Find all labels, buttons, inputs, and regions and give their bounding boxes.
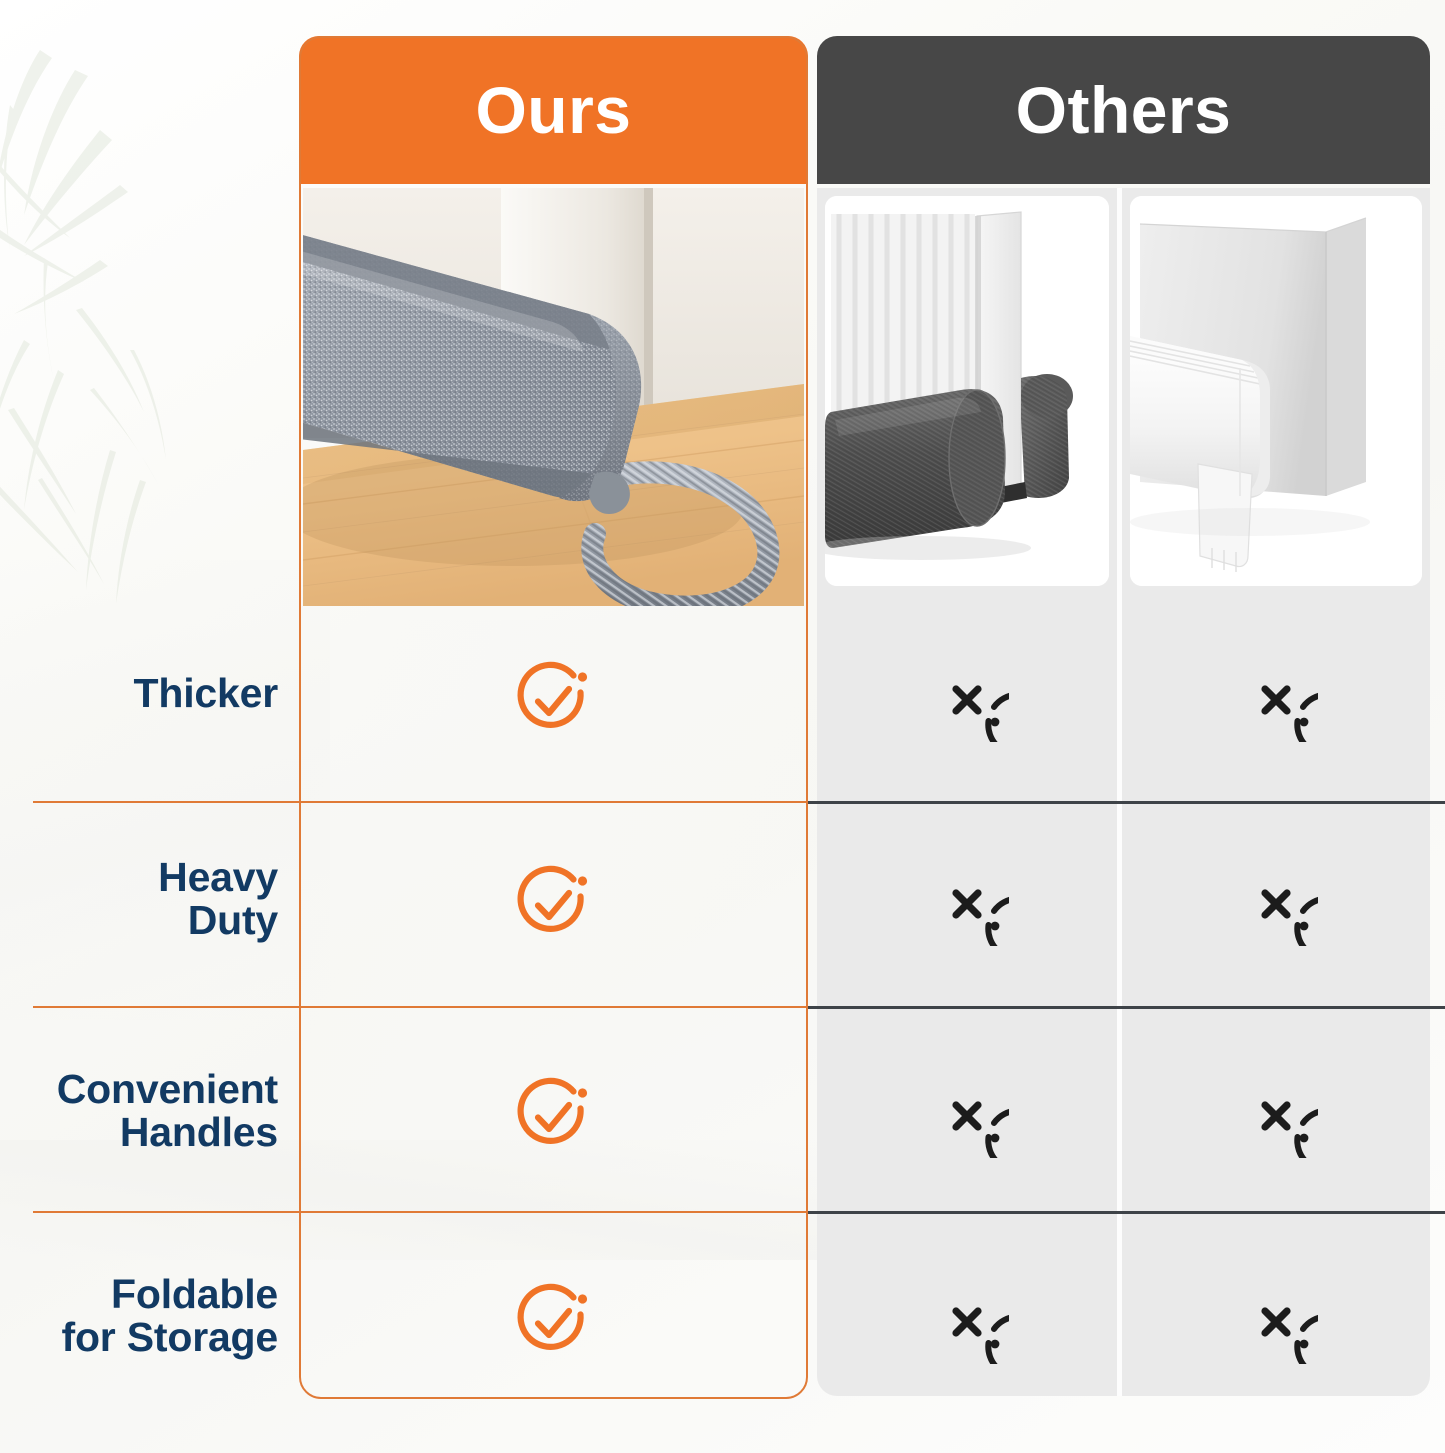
feature-label-line: for Storage [0, 1316, 278, 1359]
feature-label-line: Handles [0, 1111, 278, 1154]
ours-check-convenient-handles [511, 1074, 595, 1158]
others-cross-heavy-duty-1 [925, 862, 1009, 946]
row-divider-right [808, 1211, 1445, 1214]
row-divider-left [33, 1211, 808, 1213]
others-cross-thicker-2 [1234, 658, 1318, 742]
others-cross-foldable-for-storage-2 [1234, 1280, 1318, 1364]
row-divider-right [808, 1006, 1445, 1009]
ours-check-foldable-for-storage [511, 1280, 595, 1364]
others-cross-convenient-handles-2 [1234, 1074, 1318, 1158]
others-title: Others [1016, 77, 1232, 143]
feature-label-thicker: Thicker [0, 672, 278, 715]
feature-label-convenient-handles: Convenient Handles [0, 1068, 278, 1155]
comparison-board: Ours Others [0, 0, 1445, 1453]
others-cross-convenient-handles-1 [925, 1074, 1009, 1158]
row-divider-left [33, 801, 808, 803]
others-cross-foldable-for-storage-1 [925, 1280, 1009, 1364]
others-cross-thicker-1 [925, 658, 1009, 742]
feature-label-foldable-for-storage: Foldable for Storage [0, 1273, 278, 1360]
ours-check-thicker [511, 658, 595, 742]
feature-label-line: Heavy [0, 856, 278, 899]
row-divider-right [808, 801, 1445, 804]
others-column-gutter [1117, 188, 1122, 1396]
others-column-header: Others [817, 36, 1430, 184]
feature-label-line: Duty [0, 899, 278, 942]
others-product-photo-2 [1130, 196, 1422, 586]
others-product-photo-1 [825, 196, 1109, 586]
row-divider-left [33, 1006, 808, 1008]
feature-label-line: Convenient [0, 1068, 278, 1111]
ours-product-photo [303, 188, 804, 606]
feature-label-heavy-duty: Heavy Duty [0, 856, 278, 943]
feature-label-line: Foldable [0, 1273, 278, 1316]
others-cross-heavy-duty-2 [1234, 862, 1318, 946]
ours-check-heavy-duty [511, 862, 595, 946]
feature-label-line: Thicker [0, 672, 278, 715]
